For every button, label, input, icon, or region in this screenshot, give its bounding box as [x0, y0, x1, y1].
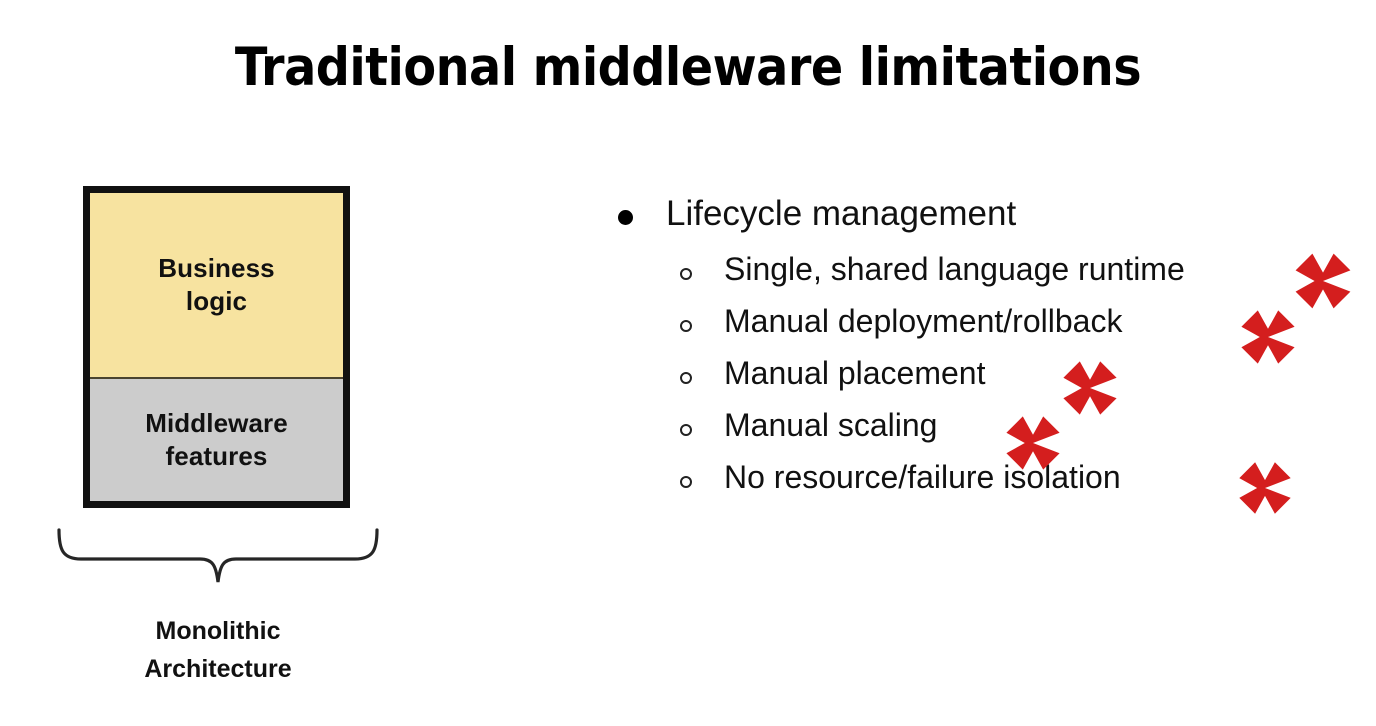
monolith-caption: Monolithic Architecture: [57, 612, 379, 688]
list-item-label: No resource/failure isolation: [724, 454, 1121, 500]
list-item: Manual deployment/rollback: [604, 300, 1364, 352]
list-item-lifecycle-management: Lifecycle management: [604, 190, 1364, 248]
bullet-disc-icon: [618, 210, 633, 225]
list-item: Manual scaling: [604, 404, 1364, 456]
list-item-label: Manual deployment/rollback: [724, 298, 1122, 344]
monolith-stack: Business logic Middleware features: [83, 186, 350, 508]
monolith-caption-line1: Monolithic: [57, 612, 379, 650]
list-item: No resource/failure isolation: [604, 456, 1364, 508]
middleware-features-label-line2: features: [166, 440, 268, 473]
list-item-label: Manual scaling: [724, 402, 937, 448]
business-logic-label-line1: Business: [158, 252, 274, 285]
middleware-features-label-line1: Middleware: [145, 407, 288, 440]
lifecycle-management-label: Lifecycle management: [666, 190, 1016, 238]
hollow-circle-icon: [680, 476, 692, 488]
list-item-label: Single, shared language runtime: [724, 246, 1185, 292]
hollow-circle-icon: [680, 372, 692, 384]
stack-layer-middleware-features: Middleware features: [90, 379, 343, 501]
curly-brace-icon: [57, 528, 379, 584]
hollow-circle-icon: [680, 320, 692, 332]
business-logic-label-line2: logic: [186, 285, 247, 318]
hollow-circle-icon: [680, 424, 692, 436]
limitations-list: Lifecycle management Single, shared lang…: [604, 190, 1364, 508]
list-item: Manual placement: [604, 352, 1364, 404]
monolithic-architecture-diagram: Business logic Middleware features: [83, 186, 350, 508]
monolith-caption-line2: Architecture: [57, 650, 379, 688]
stack-layer-business-logic: Business logic: [90, 193, 343, 379]
list-item: Single, shared language runtime: [604, 248, 1364, 300]
list-item-label: Manual placement: [724, 350, 985, 396]
hollow-circle-icon: [680, 268, 692, 280]
page-title: Traditional middleware limitations: [0, 38, 1376, 98]
